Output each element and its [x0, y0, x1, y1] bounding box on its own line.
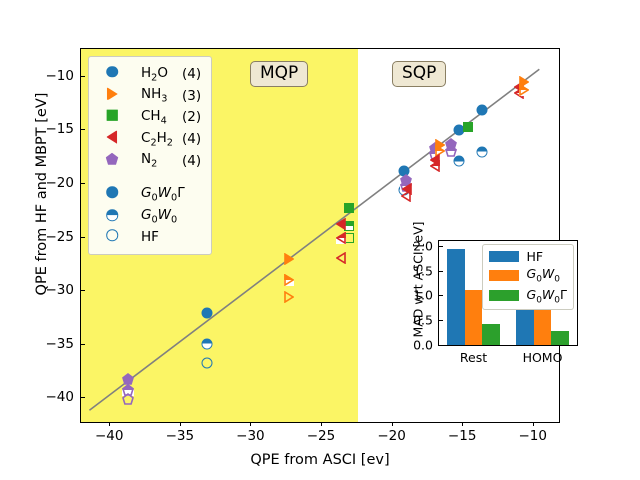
legend-row-method: HF: [97, 227, 201, 248]
scatter-point: [476, 146, 487, 157]
x-tick-label: −15: [448, 428, 477, 444]
scatter-point: [336, 252, 346, 264]
legend-marker-circle-half: [97, 205, 127, 227]
scatter-point: [122, 393, 134, 405]
inset-y-tick: [439, 246, 443, 247]
inset-y-tick-label: 0.5: [413, 313, 433, 328]
inset-y-tick: [439, 345, 443, 346]
legend-marker-circle: [97, 63, 127, 85]
inset-legend-label: G0W0: [519, 265, 568, 286]
scatter-point: [336, 232, 346, 244]
scatter-point: [519, 84, 529, 96]
inset-y-tick: [439, 271, 443, 272]
legend-marker-pentagon: [97, 150, 127, 172]
x-tick-label: −40: [95, 428, 124, 444]
legend-label-species: C2H2: [127, 128, 173, 150]
inset-category-label: HOMO: [523, 350, 563, 365]
x-tick: [109, 422, 110, 426]
inset-category-label: Rest: [460, 350, 487, 365]
legend-count: (3): [173, 85, 201, 107]
legend-label-species: N2: [127, 150, 173, 172]
inset-legend-swatch: [489, 248, 519, 265]
region-badge-mqp-label: MQP: [260, 63, 298, 83]
inset-legend-row: G0W0Γ: [489, 286, 568, 307]
x-tick: [250, 422, 251, 426]
y-tick-label: −35: [46, 336, 75, 352]
scatter-point: [284, 253, 294, 265]
main-legend-table: H2O(4)NH3(3)CH4(2)C2H2(4)N2(4)G0W0ΓG0W0H…: [97, 63, 201, 248]
scatter-point: [454, 156, 465, 167]
x-tick-label: −25: [307, 428, 336, 444]
y-tick-label: −30: [46, 282, 75, 298]
inset-y-tick-label: 0.0: [413, 338, 433, 353]
y-tick: [81, 397, 85, 398]
main-legend: H2O(4)NH3(3)CH4(2)C2H2(4)N2(4)G0W0ΓG0W0H…: [88, 56, 212, 255]
legend-label-species: H2O: [127, 63, 173, 85]
legend-row-species: C2H2(4): [97, 128, 201, 150]
inset-bar: [551, 331, 569, 345]
x-tick: [180, 422, 181, 426]
region-badge-sqp-label: SQP: [402, 63, 436, 83]
x-tick-label: −10: [519, 428, 548, 444]
x-tick: [392, 422, 393, 426]
legend-count: (4): [173, 128, 201, 150]
x-tick: [321, 422, 322, 426]
inset-y-tick: [439, 295, 443, 296]
x-axis-label: QPE from ASCI [ev]: [80, 452, 560, 468]
y-tick-label: −40: [46, 389, 75, 405]
legend-label-species: NH3: [127, 85, 173, 107]
x-tick: [462, 422, 463, 426]
legend-marker-square: [97, 106, 127, 128]
figure-canvas: QPE from HF and MBPT [eV] QPE from ASCI …: [0, 0, 640, 480]
y-tick-label: −25: [46, 229, 75, 245]
region-badge-sqp: SQP: [392, 61, 446, 87]
inset-y-tick-label: 1.5: [413, 263, 433, 278]
inset-bar: [465, 290, 483, 345]
legend-marker-circle-open: [97, 227, 127, 248]
inset-y-tick: [439, 320, 443, 321]
x-tick: [533, 422, 534, 426]
x-tick-label: −35: [166, 428, 195, 444]
scatter-point: [336, 218, 346, 230]
legend-spacer: [97, 171, 201, 183]
y-tick: [81, 76, 85, 77]
inset-legend-table: HFG0W0G0W0Γ: [489, 248, 568, 306]
scatter-point: [201, 307, 212, 318]
inset-bar-chart: MAD wrt ASCI [eV] 0.00.51.01.52.0 RestHO…: [393, 232, 578, 380]
inset-legend: HFG0W0G0W0Γ: [482, 244, 575, 310]
y-tick: [81, 129, 85, 130]
y-axis-label: QPE from HF and MBPT [eV]: [34, 4, 50, 384]
inset-legend-label: G0W0Γ: [519, 286, 568, 307]
legend-row-species: H2O(4): [97, 63, 201, 85]
inset-legend-label: HF: [519, 248, 568, 265]
legend-label-method: G0W0: [127, 205, 201, 227]
y-tick-label: −20: [46, 175, 75, 191]
inset-y-tick-label: 1.0: [413, 288, 433, 303]
scatter-point: [344, 203, 354, 213]
scatter-point: [430, 160, 440, 172]
legend-marker-triangle-right: [97, 85, 127, 107]
legend-row-method: G0W0: [97, 205, 201, 227]
y-tick: [81, 344, 85, 345]
scatter-point: [284, 274, 294, 286]
x-tick-label: −20: [377, 428, 406, 444]
legend-row-species: NH3(3): [97, 85, 201, 107]
inset-legend-swatch: [489, 265, 519, 286]
inset-legend-row: HF: [489, 248, 568, 265]
y-tick-label: −10: [46, 68, 75, 84]
legend-count: (4): [173, 63, 201, 85]
y-tick: [81, 237, 85, 238]
y-tick: [81, 290, 85, 291]
legend-marker-circle-full: [97, 183, 127, 205]
y-tick-label: −15: [46, 121, 75, 137]
scatter-point: [201, 338, 212, 349]
legend-marker-triangle-left: [97, 128, 127, 150]
scatter-point: [463, 122, 473, 132]
scatter-point: [402, 183, 412, 195]
scatter-point: [476, 105, 487, 116]
inset-bar: [482, 324, 500, 345]
legend-row-species: CH4(2): [97, 106, 201, 128]
scatter-point: [201, 357, 212, 368]
scatter-point: [284, 291, 294, 303]
legend-label-species: CH4: [127, 106, 173, 128]
legend-row-species: N2(4): [97, 150, 201, 172]
legend-count: (4): [173, 150, 201, 172]
y-tick: [81, 183, 85, 184]
inset-plot-area: 0.00.51.01.52.0 RestHOMO HFG0W0G0W0Γ: [438, 240, 578, 346]
legend-row-method: G0W0Γ: [97, 183, 201, 205]
region-badge-mqp: MQP: [250, 61, 308, 87]
legend-count: (2): [173, 106, 201, 128]
inset-legend-swatch: [489, 286, 519, 307]
legend-label-method: HF: [127, 227, 201, 248]
inset-y-axis-label: MAD wrt ASCI [eV]: [411, 210, 426, 350]
x-tick-label: −30: [236, 428, 265, 444]
inset-y-tick-label: 2.0: [413, 238, 433, 253]
inset-legend-row: G0W0: [489, 265, 568, 286]
inset-bar: [447, 249, 465, 345]
legend-label-method: G0W0Γ: [127, 183, 201, 205]
scatter-point: [445, 145, 457, 157]
